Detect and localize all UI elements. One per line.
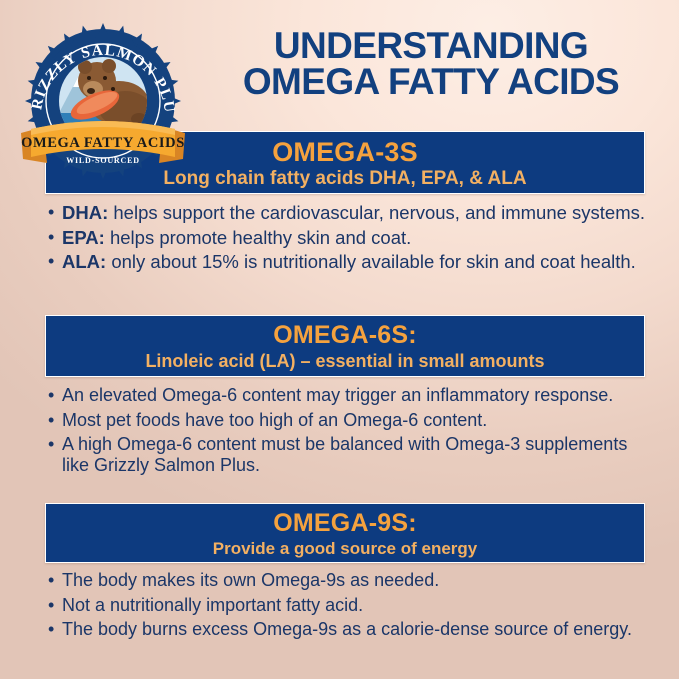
section-header-omega-9: OMEGA-9S: Provide a good source of energ… [45, 503, 645, 563]
bullet-marker-icon: • [48, 619, 62, 641]
bullet-marker-icon: • [48, 595, 62, 617]
section-subheading-omega-9: Provide a good source of energy [46, 537, 644, 560]
section-header-omega-6: OMEGA-6S: Linoleic acid (LA) – essential… [45, 315, 645, 377]
bullet-text: ALA: only about 15% is nutritionally ava… [62, 251, 656, 273]
bullet-item: •Not a nutritionally important fatty aci… [48, 595, 656, 617]
bullet-bold-label: EPA: [62, 227, 105, 248]
bullet-item: •Most pet foods have too high of an Omeg… [48, 410, 656, 432]
bullet-item: •EPA: helps promote healthy skin and coa… [48, 227, 656, 249]
grizzly-salmon-plus-logo: GRIZZLY SALMON PLUS OMEGA FATTY ACIDS WI… [17, 21, 189, 181]
bullet-marker-icon: • [48, 251, 62, 273]
page-title-line-2: OMEGA FATTY ACIDS [196, 64, 666, 100]
bullet-text: An elevated Omega-6 content may trigger … [62, 385, 656, 407]
section-heading-omega-6: OMEGA-6S: [46, 321, 644, 350]
bullet-marker-icon: • [48, 570, 62, 592]
page-title-line-1: UNDERSTANDING [196, 28, 666, 64]
bullet-item: •DHA: helps support the cardiovascular, … [48, 202, 656, 224]
bullet-text: A high Omega-6 content must be balanced … [62, 434, 656, 476]
bullet-marker-icon: • [48, 385, 62, 407]
section-subheading-omega-6: Linoleic acid (LA) – essential in small … [46, 350, 644, 373]
bullet-list-omega-9: •The body makes its own Omega-9s as need… [48, 570, 656, 644]
section-heading-omega-9: OMEGA-9S: [46, 509, 644, 537]
logo-ribbon-subtext: WILD-SOURCED [66, 156, 140, 165]
infographic-page: GRIZZLY SALMON PLUS OMEGA FATTY ACIDS WI… [0, 0, 679, 679]
page-title: UNDERSTANDING OMEGA FATTY ACIDS [196, 28, 666, 101]
bullet-list-omega-3: •DHA: helps support the cardiovascular, … [48, 202, 656, 276]
bullet-item: •The body makes its own Omega-9s as need… [48, 570, 656, 592]
logo-ribbon-text: OMEGA FATTY ACIDS [21, 135, 185, 151]
bullet-text: Not a nutritionally important fatty acid… [62, 595, 656, 617]
bullet-text: DHA: helps support the cardiovascular, n… [62, 202, 656, 224]
bullet-item: •An elevated Omega-6 content may trigger… [48, 385, 656, 407]
bullet-item: •A high Omega-6 content must be balanced… [48, 434, 656, 476]
bullet-marker-icon: • [48, 410, 62, 432]
bullet-item: •The body burns excess Omega-9s as a cal… [48, 619, 656, 641]
bullet-marker-icon: • [48, 227, 62, 249]
bullet-marker-icon: • [48, 202, 62, 224]
bullet-text: The body makes its own Omega-9s as neede… [62, 570, 656, 592]
bullet-bold-label: ALA: [62, 251, 106, 272]
bullet-bold-label: DHA: [62, 202, 108, 223]
bullet-marker-icon: • [48, 434, 62, 476]
bullet-text: Most pet foods have too high of an Omega… [62, 410, 656, 432]
bullet-text: The body burns excess Omega-9s as a calo… [62, 619, 656, 641]
bullet-list-omega-6: •An elevated Omega-6 content may trigger… [48, 385, 656, 479]
bullet-item: •ALA: only about 15% is nutritionally av… [48, 251, 656, 273]
bullet-text: EPA: helps promote healthy skin and coat… [62, 227, 656, 249]
